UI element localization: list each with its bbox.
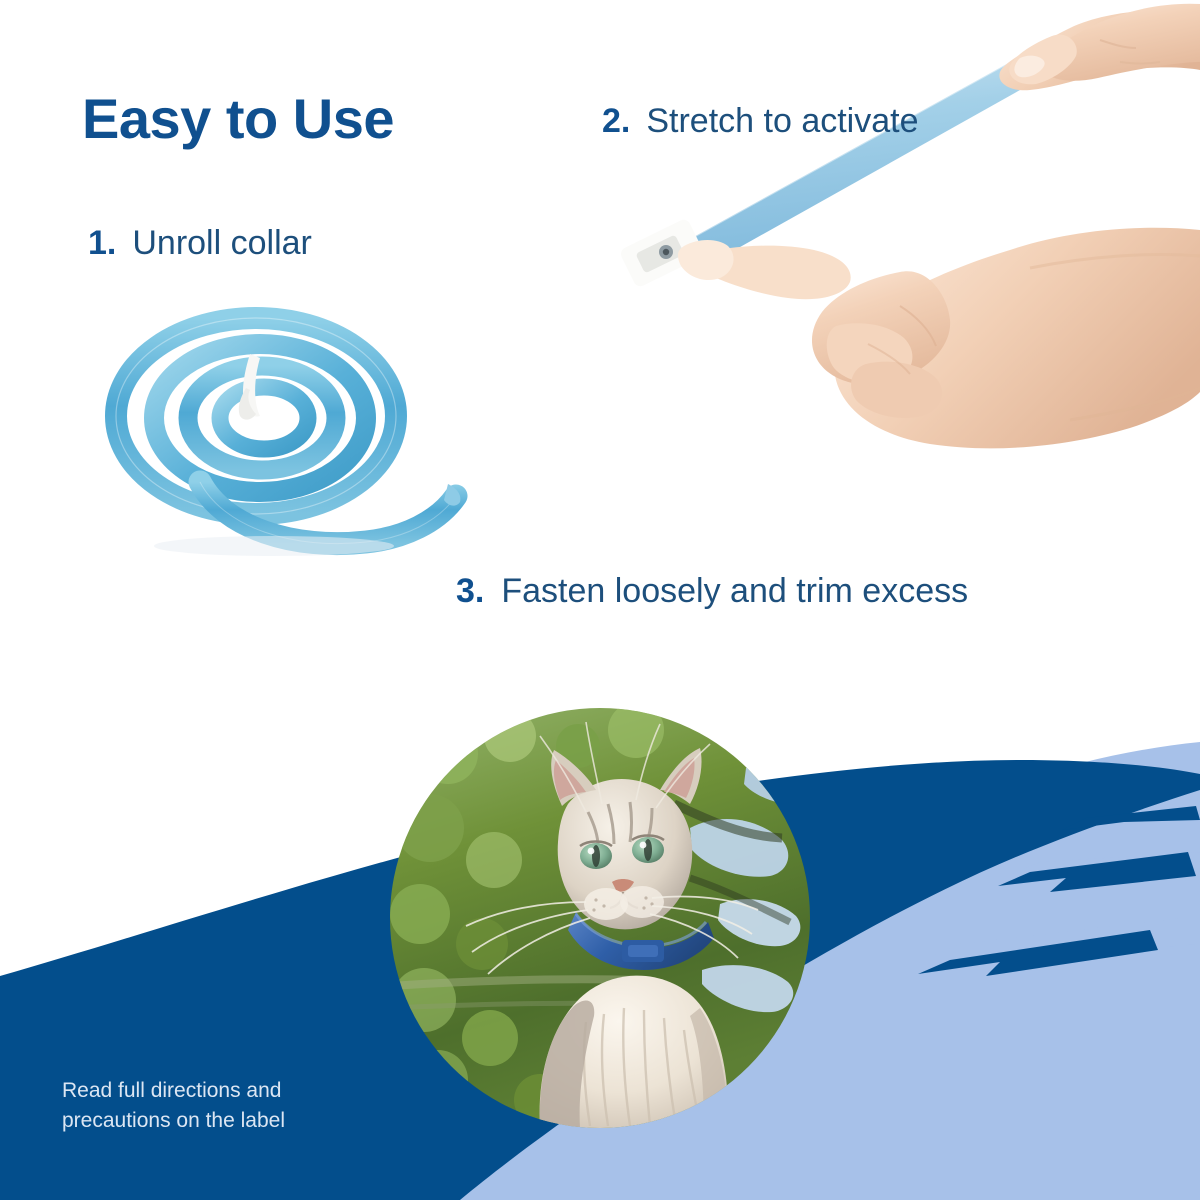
step-2-label: Stretch to activate bbox=[646, 100, 918, 144]
step-1-label: Unroll collar bbox=[132, 222, 312, 266]
step-1: 1. Unroll collar bbox=[88, 222, 312, 266]
step-2-number: 2. bbox=[602, 100, 630, 144]
page-title: Easy to Use bbox=[82, 86, 394, 151]
lower-hand bbox=[678, 228, 1200, 449]
step-1-number: 1. bbox=[88, 222, 116, 266]
step-3-number: 3. bbox=[456, 570, 484, 614]
infographic-root: Easy to Use 1. Unroll collar bbox=[0, 0, 1200, 1200]
footer-disclaimer: Read full directions and precautions on … bbox=[62, 1076, 392, 1136]
step-3: 3. Fasten loosely and trim excess bbox=[456, 570, 926, 614]
step-3-label: Fasten loosely and trim excess bbox=[501, 570, 968, 614]
cat-wearing-collar-photo bbox=[390, 708, 810, 1128]
step-2: 2. Stretch to activate bbox=[602, 100, 902, 144]
coiled-blue-collar-photo bbox=[104, 296, 480, 568]
hands-stretching-collar-photo bbox=[600, 0, 1200, 500]
upper-hand bbox=[999, 4, 1200, 91]
